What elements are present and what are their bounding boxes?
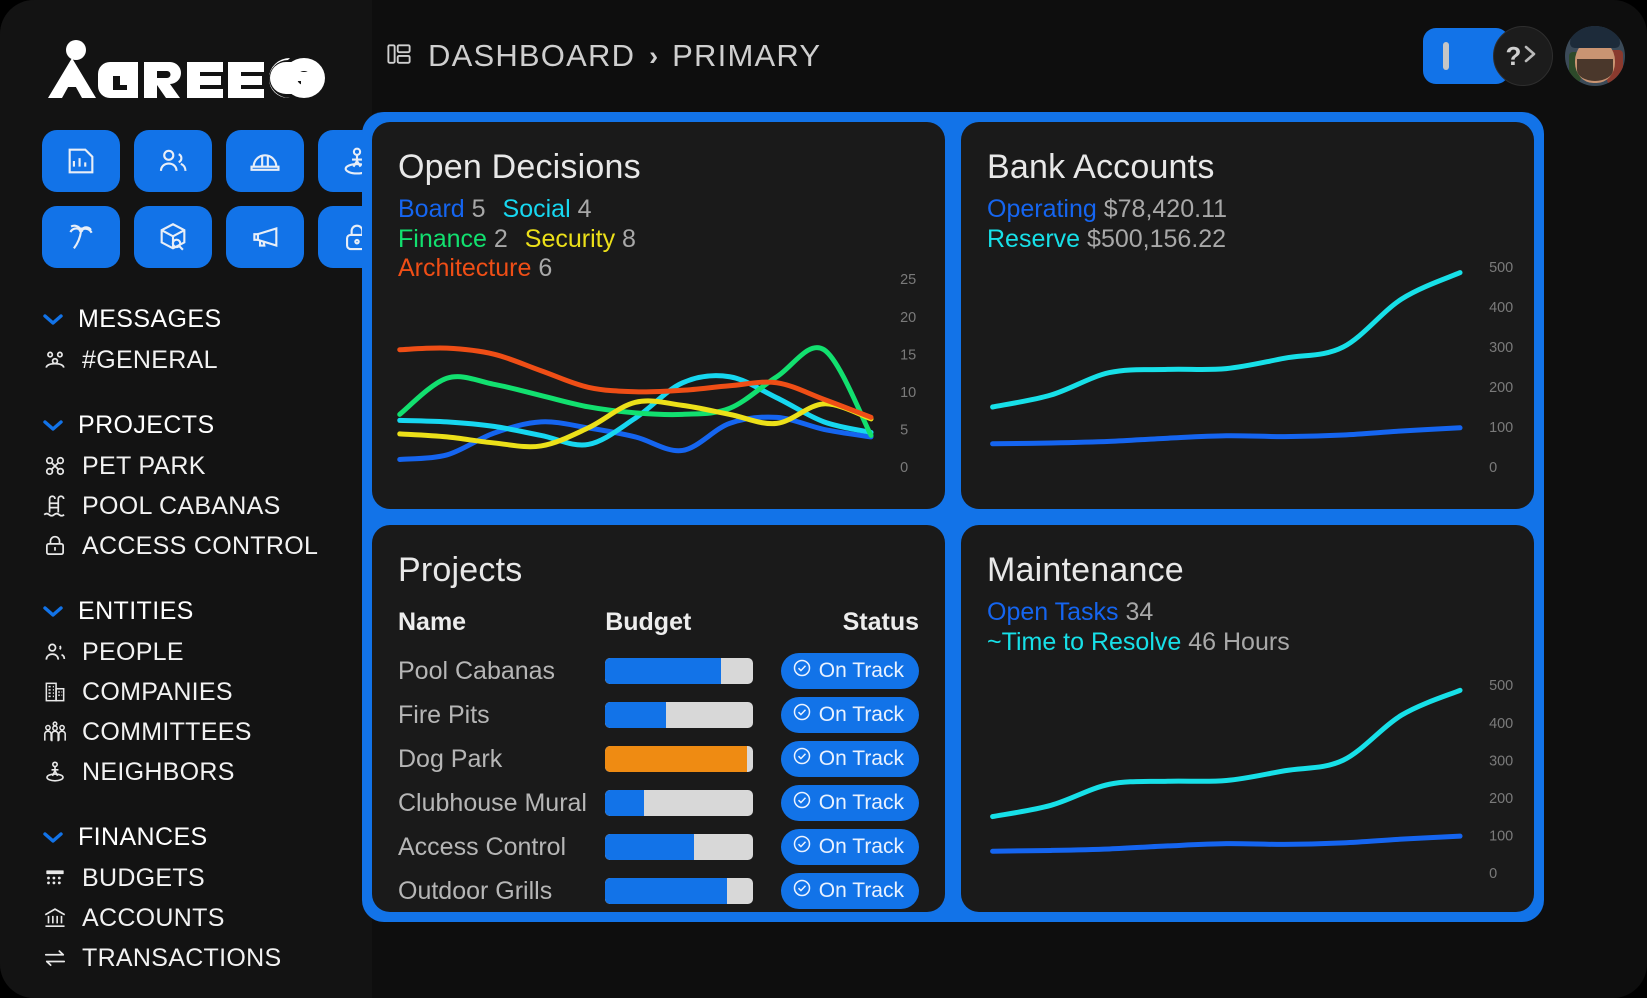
- nav-group-label: ENTITIES: [78, 597, 194, 626]
- y-axis-tick-label: 100: [1489, 420, 1513, 436]
- table-row[interactable]: Outdoor GrillsOn Track: [398, 869, 919, 912]
- sidebar-item-label: COMMITTEES: [82, 718, 252, 747]
- budget-progress-fill: [605, 746, 747, 772]
- check-circle-icon: [792, 790, 812, 816]
- project-name-label: Dog Park: [398, 745, 502, 773]
- sidebar: MESSAGES #GENERAL PROJECTS: [0, 0, 372, 998]
- budget-progress-fill: [605, 834, 694, 860]
- sidebar-item-label: POOL CABANAS: [82, 492, 281, 521]
- cell-status: On Track: [767, 693, 919, 737]
- budget-progress-fill: [605, 878, 726, 904]
- sidebar-item-budgets[interactable]: BUDGETS: [42, 858, 372, 898]
- chevron-down-icon: [42, 830, 64, 844]
- megaphone-icon[interactable]: [226, 206, 304, 268]
- breadcrumb-dashboard[interactable]: DASHBOARD: [428, 38, 635, 74]
- table-row[interactable]: Access ControlOn Track: [398, 825, 919, 869]
- sidebar-item-label: PET PARK: [82, 452, 206, 481]
- series-line-reserve: [993, 273, 1461, 407]
- nav-group-label: PROJECTS: [78, 411, 215, 440]
- app-logo[interactable]: [0, 38, 372, 116]
- card-title: Maintenance: [987, 551, 1508, 590]
- card-maintenance: Maintenance Open Tasks 34 ~Time to Resol…: [961, 525, 1534, 912]
- column-header-budget: Budget: [605, 608, 767, 649]
- sidebar-item-people[interactable]: PEOPLE: [42, 632, 372, 672]
- nav-group-header-messages[interactable]: MESSAGES: [42, 298, 372, 340]
- cell-status: On Track: [767, 825, 919, 869]
- status-label: On Track: [819, 703, 904, 727]
- check-circle-icon: [792, 834, 812, 860]
- nav-group-header-finances[interactable]: FINANCES: [42, 816, 372, 858]
- stat-value-reserve: $500,156.22: [1087, 225, 1226, 253]
- legend-value-security: 8: [622, 225, 636, 253]
- status-label: On Track: [819, 791, 904, 815]
- breadcrumb-primary[interactable]: PRIMARY: [672, 38, 821, 74]
- stat-label-operating: Operating: [987, 195, 1097, 223]
- breadcrumb-separator-icon: ›: [649, 41, 658, 72]
- y-axis-tick-label: 10: [900, 385, 916, 401]
- building-icon: [42, 679, 68, 705]
- dashboard-board: Open Decisions Board 5 Social 4 Finance …: [362, 112, 1544, 922]
- nav-group-label: FINANCES: [78, 823, 208, 852]
- dashboard-grid-icon: [384, 39, 414, 74]
- maintenance-chart: 0100200300400500: [979, 675, 1520, 900]
- sidebar-item-label: NEIGHBORS: [82, 758, 235, 787]
- legend-row: Finance 2 Security 8: [398, 225, 919, 255]
- status-label: On Track: [819, 835, 904, 859]
- status-badge[interactable]: On Track: [781, 785, 919, 821]
- chevron-down-icon: [42, 312, 64, 326]
- stat-value-operating: $78,420.11: [1104, 195, 1227, 223]
- y-axis-tick-label: 5: [900, 422, 908, 438]
- sidebar-item-access-control[interactable]: ACCESS CONTROL: [42, 526, 372, 566]
- chevron-down-icon: [42, 604, 64, 618]
- bank-accounts-stats: Operating $78,420.11 Reserve $500,156.22: [987, 195, 1508, 254]
- nav-group-projects: PROJECTS PET PARK POOL CABANAS: [42, 404, 372, 566]
- budget-progress-fill: [605, 790, 643, 816]
- status-label: On Track: [819, 879, 904, 903]
- cell-budget: [605, 693, 767, 737]
- palm-tree-icon[interactable]: [42, 206, 120, 268]
- check-circle-icon: [792, 878, 812, 904]
- stat-row: Operating $78,420.11: [987, 195, 1508, 225]
- stat-label-time-to-resolve: ~Time to Resolve: [987, 628, 1181, 656]
- cell-project-name: Pool Cabanas: [398, 649, 605, 693]
- y-axis-tick-label: 0: [1489, 460, 1497, 476]
- column-header-name: Name: [398, 608, 605, 649]
- open-decisions-chart: 0510152025: [390, 267, 931, 497]
- chevron-right-icon: [1522, 41, 1540, 72]
- budget-progress-bar[interactable]: [605, 834, 753, 860]
- series-line-operating: [993, 428, 1461, 444]
- cell-project-name: Outdoor Grills: [398, 869, 605, 912]
- status-badge[interactable]: On Track: [781, 873, 919, 909]
- y-axis-tick-label: 500: [1489, 260, 1513, 276]
- sidebar-item-label: ACCOUNTS: [82, 904, 225, 933]
- stat-label-reserve: Reserve: [987, 225, 1080, 253]
- sidebar-item-neighbors[interactable]: NEIGHBORS: [42, 752, 372, 792]
- y-axis-tick-label: 25: [900, 272, 916, 288]
- project-name-label: Fire Pits: [398, 701, 490, 729]
- sidebar-nav: MESSAGES #GENERAL PROJECTS: [0, 268, 372, 978]
- sidebar-item-pool-cabanas[interactable]: POOL CABANAS: [42, 486, 372, 526]
- projects-table: Name Budget Status Pool CabanasOn TrackF…: [398, 608, 919, 912]
- budget-progress-bar[interactable]: [605, 790, 753, 816]
- header-actions: ?: [1423, 26, 1647, 86]
- budget-progress-fill: [605, 658, 720, 684]
- stat-label-open-tasks: Open Tasks: [987, 598, 1119, 626]
- card-projects: Projects Name Budget Status Pool Cabanas…: [372, 525, 945, 912]
- table-row[interactable]: Clubhouse MuralOn Track: [398, 781, 919, 825]
- cell-project-name: Clubhouse Mural: [398, 781, 605, 825]
- committee-icon: [42, 719, 68, 745]
- y-axis-tick-label: 500: [1489, 678, 1513, 694]
- projects-table-body: Pool CabanasOn TrackFire PitsOn TrackDog…: [398, 649, 919, 912]
- card-bank-accounts: Bank Accounts Operating $78,420.11 Reser…: [961, 122, 1534, 509]
- group-chat-icon: [42, 347, 68, 373]
- sidebar-item-pet-park[interactable]: PET PARK: [42, 446, 372, 486]
- cell-status: On Track: [767, 649, 919, 693]
- sidebar-item-companies[interactable]: COMPANIES: [42, 672, 372, 712]
- nav-group-header-entities[interactable]: ENTITIES: [42, 590, 372, 632]
- table-row[interactable]: Dog ParkOn Track: [398, 737, 919, 781]
- person-icon: [42, 639, 68, 665]
- y-axis-tick-label: 200: [1489, 791, 1513, 807]
- project-name-label: Pool Cabanas: [398, 657, 555, 685]
- column-header-status: Status: [767, 608, 919, 649]
- series-line-reserve: [993, 690, 1461, 816]
- legend-value-social: 4: [578, 195, 592, 223]
- sidebar-item-transactions[interactable]: TRANSACTIONS: [42, 938, 372, 978]
- grid-dots-icon: [42, 865, 68, 891]
- dashboard-app: MESSAGES #GENERAL PROJECTS: [0, 0, 1647, 998]
- chevron-down-icon: [42, 418, 64, 432]
- table-row[interactable]: Fire PitsOn Track: [398, 693, 919, 737]
- status-badge[interactable]: On Track: [781, 829, 919, 865]
- nav-group-entities: ENTITIES PEOPLE COMPANIES: [42, 590, 372, 792]
- budget-progress-bar[interactable]: [605, 746, 753, 772]
- nav-group-messages: MESSAGES #GENERAL: [42, 298, 372, 380]
- user-avatar[interactable]: [1565, 26, 1625, 86]
- hardhat-icon[interactable]: [226, 130, 304, 192]
- cell-budget: [605, 869, 767, 912]
- sidebar-item-label: ACCESS CONTROL: [82, 532, 318, 561]
- project-name-label: Access Control: [398, 833, 566, 861]
- cell-project-name: Access Control: [398, 825, 605, 869]
- legend-value-finance: 2: [494, 225, 508, 253]
- cell-project-name: Fire Pits: [398, 693, 605, 737]
- table-row[interactable]: Pool CabanasOn Track: [398, 649, 919, 693]
- legend-label-security: Security: [525, 225, 615, 253]
- pool-icon: [42, 493, 68, 519]
- stat-row: Open Tasks 34: [987, 598, 1508, 628]
- legend-label-social: Social: [503, 195, 571, 223]
- check-circle-icon: [792, 702, 812, 728]
- bank-icon: [42, 905, 68, 931]
- stat-row: Reserve $500,156.22: [987, 225, 1508, 255]
- sidebar-item-label: BUDGETS: [82, 864, 205, 893]
- y-axis-tick-label: 0: [900, 460, 908, 476]
- stat-value-time-to-resolve: 46 Hours: [1188, 628, 1289, 656]
- package-search-icon[interactable]: [134, 206, 212, 268]
- project-name-label: Outdoor Grills: [398, 877, 552, 905]
- sidebar-item-label: TRANSACTIONS: [82, 944, 281, 973]
- y-axis-tick-label: 100: [1489, 828, 1513, 844]
- y-axis-tick-label: 20: [900, 310, 916, 326]
- check-circle-icon: [792, 746, 812, 772]
- breadcrumb: DASHBOARD › PRIMARY: [372, 38, 821, 74]
- toggle-bar-icon: [1443, 42, 1449, 70]
- series-line-operating: [993, 836, 1461, 851]
- card-title: Projects: [398, 551, 919, 590]
- budget-progress-bar[interactable]: [605, 658, 753, 684]
- nav-group-header-projects[interactable]: PROJECTS: [42, 404, 372, 446]
- avatar-beard: [1577, 59, 1613, 81]
- bank-accounts-chart: 0100200300400500: [979, 257, 1520, 497]
- budget-progress-bar[interactable]: [605, 702, 753, 728]
- sidebar-item-label: #GENERAL: [82, 346, 218, 375]
- status-badge[interactable]: On Track: [781, 653, 919, 689]
- transfer-arrows-icon: [42, 945, 68, 971]
- card-open-decisions: Open Decisions Board 5 Social 4 Finance …: [372, 122, 945, 509]
- cell-budget: [605, 825, 767, 869]
- quick-tiles: [0, 116, 372, 268]
- check-circle-icon: [792, 658, 812, 684]
- y-axis-tick-label: 300: [1489, 340, 1513, 356]
- y-axis-tick-label: 15: [900, 347, 916, 363]
- y-axis-tick-label: 400: [1489, 716, 1513, 732]
- y-axis-tick-label: 0: [1489, 866, 1497, 882]
- sidebar-item-label: COMPANIES: [82, 678, 233, 707]
- y-axis-tick-label: 200: [1489, 380, 1513, 396]
- people-icon[interactable]: [134, 130, 212, 192]
- legend-label-finance: Finance: [398, 225, 487, 253]
- paw-icon: [42, 453, 68, 479]
- top-header: DASHBOARD › PRIMARY ?: [372, 0, 1647, 112]
- project-name-label: Clubhouse Mural: [398, 789, 587, 817]
- y-axis-tick-label: 300: [1489, 753, 1513, 769]
- legend-value-board: 5: [472, 195, 486, 223]
- report-chart-icon[interactable]: [42, 130, 120, 192]
- help-button[interactable]: ?: [1493, 26, 1553, 86]
- card-title: Bank Accounts: [987, 148, 1508, 187]
- status-badge[interactable]: On Track: [781, 741, 919, 777]
- budget-progress-bar[interactable]: [605, 878, 753, 904]
- cell-status: On Track: [767, 869, 919, 912]
- status-label: On Track: [819, 659, 904, 683]
- card-title: Open Decisions: [398, 148, 919, 187]
- budget-progress-fill: [605, 702, 666, 728]
- status-badge[interactable]: On Track: [781, 697, 919, 733]
- cell-budget: [605, 737, 767, 781]
- stat-value-open-tasks: 34: [1126, 598, 1154, 626]
- table-header-row: Name Budget Status: [398, 608, 919, 649]
- neighbors-icon: [42, 759, 68, 785]
- cell-budget: [605, 781, 767, 825]
- nav-group-label: MESSAGES: [78, 305, 222, 334]
- cell-status: On Track: [767, 781, 919, 825]
- sidebar-item-accounts[interactable]: ACCOUNTS: [42, 898, 372, 938]
- legend-label-board: Board: [398, 195, 465, 223]
- cell-budget: [605, 649, 767, 693]
- help-question-label: ?: [1506, 41, 1522, 72]
- status-label: On Track: [819, 747, 904, 771]
- stat-row: ~Time to Resolve 46 Hours: [987, 628, 1508, 658]
- sidebar-item-label: PEOPLE: [82, 638, 184, 667]
- sidebar-item-committees[interactable]: COMMITTEES: [42, 712, 372, 752]
- nav-group-finances: FINANCES BUDGETS ACCOUNTS: [42, 816, 372, 978]
- cell-status: On Track: [767, 737, 919, 781]
- y-axis-tick-label: 400: [1489, 300, 1513, 316]
- avatar-cap: [1570, 26, 1620, 48]
- sidebar-item-general[interactable]: #GENERAL: [42, 340, 372, 380]
- maintenance-stats: Open Tasks 34 ~Time to Resolve 46 Hours: [987, 598, 1508, 657]
- cell-project-name: Dog Park: [398, 737, 605, 781]
- legend-row: Board 5 Social 4: [398, 195, 919, 225]
- agreego-logo-icon: [42, 38, 332, 100]
- padlock-icon: [42, 533, 68, 559]
